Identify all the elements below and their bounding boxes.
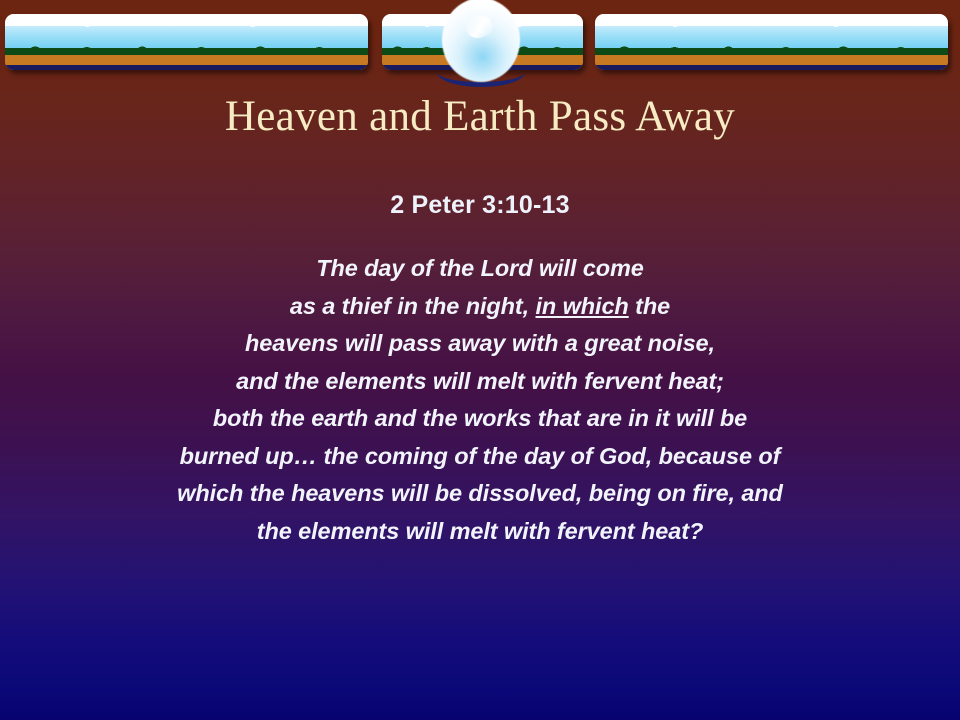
scripture-line-text: the [629,293,670,319]
scripture-line-text: the elements will melt with fervent heat… [257,518,703,544]
scripture-line: heavens will pass away with a great nois… [0,325,960,363]
scripture-line-text: which the heavens will be dissolved, bei… [177,480,783,506]
treeline [595,40,948,55]
scripture-line-text: burned up… the coming of the day of God,… [180,443,781,469]
glowing-sphere-icon [442,0,520,82]
waterline [595,65,948,70]
treeline [5,40,368,55]
landscape-panel-right [595,14,948,70]
scripture-line: burned up… the coming of the day of God,… [0,438,960,476]
banner-header-graphic [0,0,960,86]
cloud-band [595,14,948,26]
page-title: Heaven and Earth Pass Away [0,92,960,141]
scripture-line: both the earth and the works that are in… [0,400,960,438]
scripture-line-text: as a thief in the night, [290,293,536,319]
scripture-line: which the heavens will be dissolved, bei… [0,475,960,513]
presentation-slide: Heaven and Earth Pass Away 2 Peter 3:10-… [0,0,960,720]
scripture-emphasis: in which [535,293,628,319]
scripture-line-text: The day of the Lord will come [316,255,643,281]
waterline [5,65,368,70]
scripture-reference: 2 Peter 3:10-13 [0,191,960,220]
cloud-band [5,14,368,26]
scripture-line: as a thief in the night, in which the [0,288,960,326]
scripture-line: the elements will melt with fervent heat… [0,513,960,551]
scripture-line-text: both the earth and the works that are in… [213,405,747,431]
scripture-body-text: The day of the Lord will comeas a thief … [0,250,960,550]
scripture-line-text: and the elements will melt with fervent … [236,368,724,394]
scripture-line-text: heavens will pass away with a great nois… [245,330,715,356]
scripture-line: and the elements will melt with fervent … [0,363,960,401]
scripture-line: The day of the Lord will come [0,250,960,288]
landscape-panel-left [5,14,368,70]
